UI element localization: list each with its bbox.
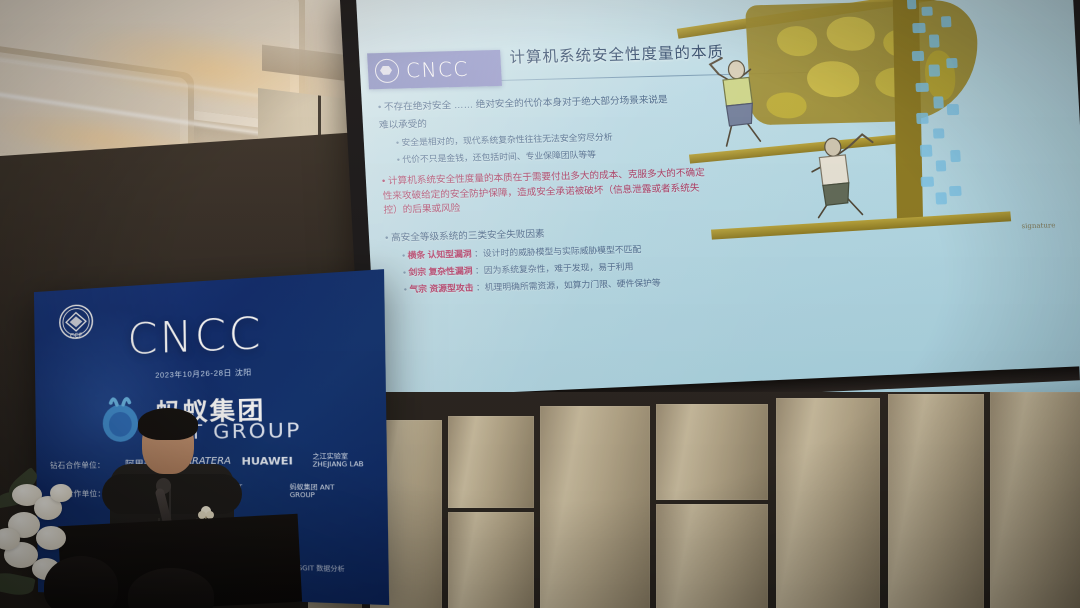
audience-head	[44, 556, 118, 608]
presentation-photo: 计算机系统安全性度量的本质 CNCC 不存在绝对安全 …… 绝对安全的代价本身对…	[0, 0, 1080, 608]
svg-text:CCF: CCF	[70, 332, 83, 340]
banner-date-location: 2023年10月26-28日 沈阳	[155, 367, 252, 381]
speaker-shoulders	[102, 474, 242, 514]
speaker-hair	[138, 408, 198, 440]
sponsor-logo-sgit: SGIT 数据分析	[298, 565, 377, 575]
ccf-logo-icon: CCF	[58, 302, 95, 340]
lower-wall-panels	[300, 392, 1080, 608]
sponsor-logo-zhejianglab: 之江实验室 ZHEJIANG LAB	[312, 453, 382, 469]
sponsor-logo-antgroup: 蚂蚁集团 ANT GROUP	[290, 484, 359, 500]
banner-event-title: CNCC	[127, 307, 263, 364]
sponsor-logo-huawei: HUAWEI	[241, 456, 293, 468]
